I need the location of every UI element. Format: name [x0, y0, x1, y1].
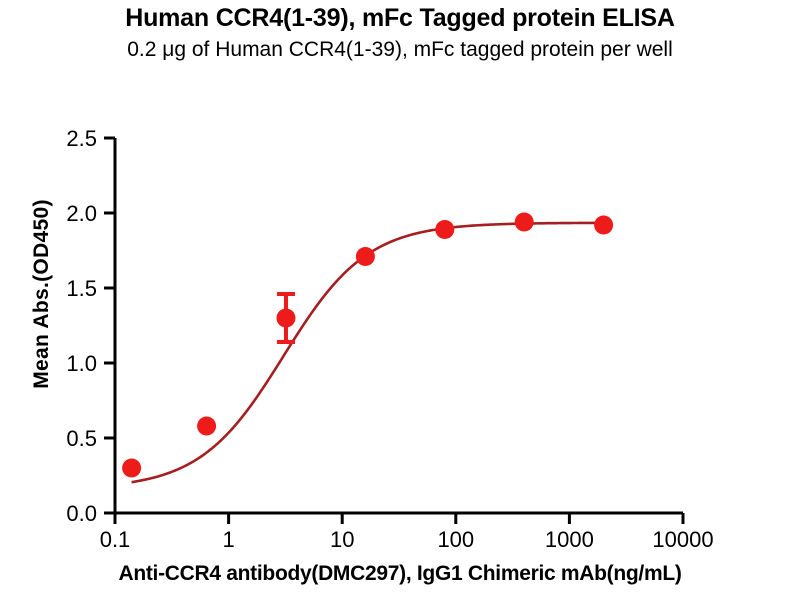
y-tick-label: 1.5 — [66, 276, 97, 301]
y-axis-label: Mean Abs.(OD450) — [30, 134, 54, 454]
x-tick-label: 0.1 — [100, 527, 131, 552]
data-point-marker — [435, 220, 454, 239]
data-point-marker — [122, 459, 141, 478]
y-tick-label: 1.0 — [66, 351, 97, 376]
data-point-marker — [515, 213, 534, 232]
axes-layer: 0.11101001000100000.00.51.01.52.02.5 — [66, 126, 713, 552]
x-tick-label: 1000 — [545, 527, 594, 552]
x-tick-label: 10 — [330, 527, 354, 552]
data-point-marker — [594, 216, 613, 235]
plot-area: 0.11101001000100000.00.51.01.52.02.5 — [0, 0, 800, 600]
y-tick-label: 0.0 — [66, 501, 97, 526]
elisa-chart-figure: Human CCR4(1-39), mFc Tagged protein ELI… — [0, 0, 800, 600]
data-point-marker — [356, 247, 375, 266]
x-axis-label: Anti-CCR4 antibody(DMC297), IgG1 Chimeri… — [0, 562, 800, 586]
y-tick-label: 2.0 — [66, 201, 97, 226]
x-tick-label: 100 — [437, 527, 474, 552]
y-tick-label: 0.5 — [66, 426, 97, 451]
data-points-layer — [122, 213, 613, 478]
data-point-marker — [197, 417, 216, 436]
x-tick-label: 10000 — [652, 527, 713, 552]
x-tick-label: 1 — [222, 527, 234, 552]
data-point-marker — [276, 309, 295, 328]
y-tick-label: 2.5 — [66, 126, 97, 151]
